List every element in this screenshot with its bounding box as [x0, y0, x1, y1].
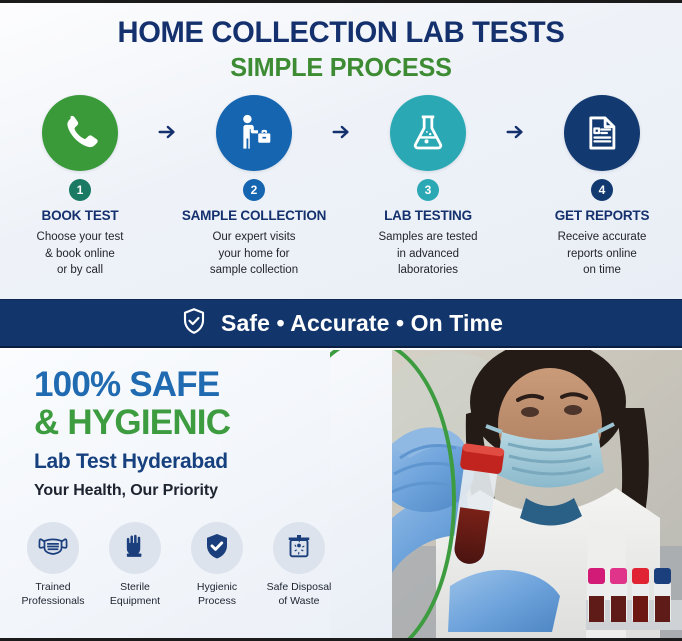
feature-sterile-equipment[interactable]: Sterile Equipment — [98, 522, 172, 608]
document-report-icon — [581, 112, 623, 154]
feature-3-label-line-1: Hygienic — [197, 581, 237, 595]
step-2-circle — [216, 95, 292, 171]
step-2-title: SAMPLE COLLECTION — [182, 208, 326, 223]
feature-1-label-line-2: Professionals — [21, 595, 84, 609]
step-3-title: LAB TESTING — [384, 208, 472, 223]
step-lab-testing[interactable]: 3 LAB TESTING Samples are tested in adva… — [358, 95, 498, 279]
process-section: HOME COLLECTION LAB TESTS SIMPLE PROCESS… — [0, 3, 682, 299]
step-3-badge: 3 — [417, 179, 439, 201]
step-3-desc-line-1: Samples are tested — [378, 229, 477, 246]
arrow-right-icon-1 — [150, 95, 184, 143]
feature-3-label-line-2: Process — [197, 595, 237, 609]
feature-safe-disposal[interactable]: Safe Disposal of Waste — [262, 522, 336, 608]
process-steps: 1 BOOK TEST Choose your test & book onli… — [0, 95, 682, 295]
feature-2-label-line-2: Equipment — [110, 595, 160, 609]
phone-icon — [59, 112, 101, 154]
step-3-desc-line-3: laboratories — [378, 262, 477, 279]
feature-3-label: Hygienic Process — [197, 581, 237, 608]
feature-1-label: Trained Professionals — [21, 581, 84, 608]
feature-hygienic-process[interactable]: Hygienic Process — [180, 522, 254, 608]
feature-badges: Trained Professionals Sterile Equipment — [16, 522, 336, 608]
brand-name: Lab Test Hyderabad — [34, 450, 364, 474]
step-1-desc-line-3: or by call — [37, 262, 124, 279]
step-2-desc-line-1: Our expert visits — [210, 229, 298, 246]
promo-headline: 100% SAFE & HYGIENIC Lab Test Hyderabad … — [34, 366, 364, 500]
headline-hygienic: & HYGIENIC — [34, 404, 364, 442]
shield-check-icon — [202, 531, 232, 566]
step-4-desc-line-2: reports online — [558, 246, 647, 263]
step-2-desc-line-2: your home for — [210, 246, 298, 263]
feature-1-circle — [27, 522, 79, 574]
step-3-desc-line-2: in advanced — [378, 246, 477, 263]
step-3-circle — [390, 95, 466, 171]
arrow-right-icon-2 — [324, 95, 358, 143]
trust-banner: Safe • Accurate • On Time — [0, 299, 682, 348]
step-1-desc-line-2: & book online — [37, 246, 124, 263]
biohazard-bin-icon — [284, 531, 314, 566]
step-get-reports[interactable]: 4 GET REPORTS Receive accurate reports o… — [532, 95, 672, 279]
step-2-desc: Our expert visits your home for sample c… — [210, 229, 298, 279]
step-4-circle — [564, 95, 640, 171]
step-4-desc-line-1: Receive accurate — [558, 229, 647, 246]
flask-icon — [406, 111, 450, 155]
step-1-desc: Choose your test & book online or by cal… — [37, 229, 124, 279]
header-titles: HOME COLLECTION LAB TESTS SIMPLE PROCESS — [0, 3, 682, 82]
step-4-title: GET REPORTS — [555, 208, 650, 223]
feature-4-label: Safe Disposal of Waste — [267, 581, 332, 608]
step-4-desc: Receive accurate reports online on time — [558, 229, 647, 279]
feature-3-circle — [191, 522, 243, 574]
feature-1-label-line-1: Trained — [21, 581, 84, 595]
headline-safe: 100% SAFE — [34, 366, 364, 404]
shield-check-icon — [179, 306, 209, 341]
feature-2-circle — [109, 522, 161, 574]
step-3-desc: Samples are tested in advanced laborator… — [378, 229, 477, 279]
step-4-desc-line-3: on time — [558, 262, 647, 279]
step-1-desc-line-1: Choose your test — [37, 229, 124, 246]
page-title: HOME COLLECTION LAB TESTS — [10, 17, 672, 49]
lab-technician-photo — [330, 350, 682, 641]
feature-2-label-line-1: Sterile — [110, 581, 160, 595]
arrow-right-icon-3 — [498, 95, 532, 143]
step-1-circle — [42, 95, 118, 171]
person-with-medical-bag-icon — [232, 111, 276, 155]
feature-4-label-line-1: Safe Disposal — [267, 581, 332, 595]
feature-2-label: Sterile Equipment — [110, 581, 160, 608]
step-4-badge: 4 — [591, 179, 613, 201]
step-1-badge: 1 — [69, 179, 91, 201]
glove-icon — [121, 532, 149, 565]
face-mask-icon — [37, 530, 69, 567]
step-book-test[interactable]: 1 BOOK TEST Choose your test & book onli… — [10, 95, 150, 279]
step-2-badge: 2 — [243, 179, 265, 201]
step-2-desc-line-3: sample collection — [210, 262, 298, 279]
feature-4-label-line-2: of Waste — [267, 595, 332, 609]
step-sample-collection[interactable]: 2 SAMPLE COLLECTION Our expert visits yo… — [184, 95, 324, 279]
feature-4-circle — [273, 522, 325, 574]
promo-section: 100% SAFE & HYGIENIC Lab Test Hyderabad … — [0, 350, 682, 641]
page-subtitle: SIMPLE PROCESS — [10, 53, 672, 83]
infographic-poster: HOME COLLECTION LAB TESTS SIMPLE PROCESS… — [0, 0, 682, 641]
tagline: Your Health, Our Priority — [34, 482, 364, 500]
banner-text: Safe • Accurate • On Time — [221, 310, 503, 337]
step-1-title: BOOK TEST — [42, 208, 119, 223]
feature-trained-professionals[interactable]: Trained Professionals — [16, 522, 90, 608]
